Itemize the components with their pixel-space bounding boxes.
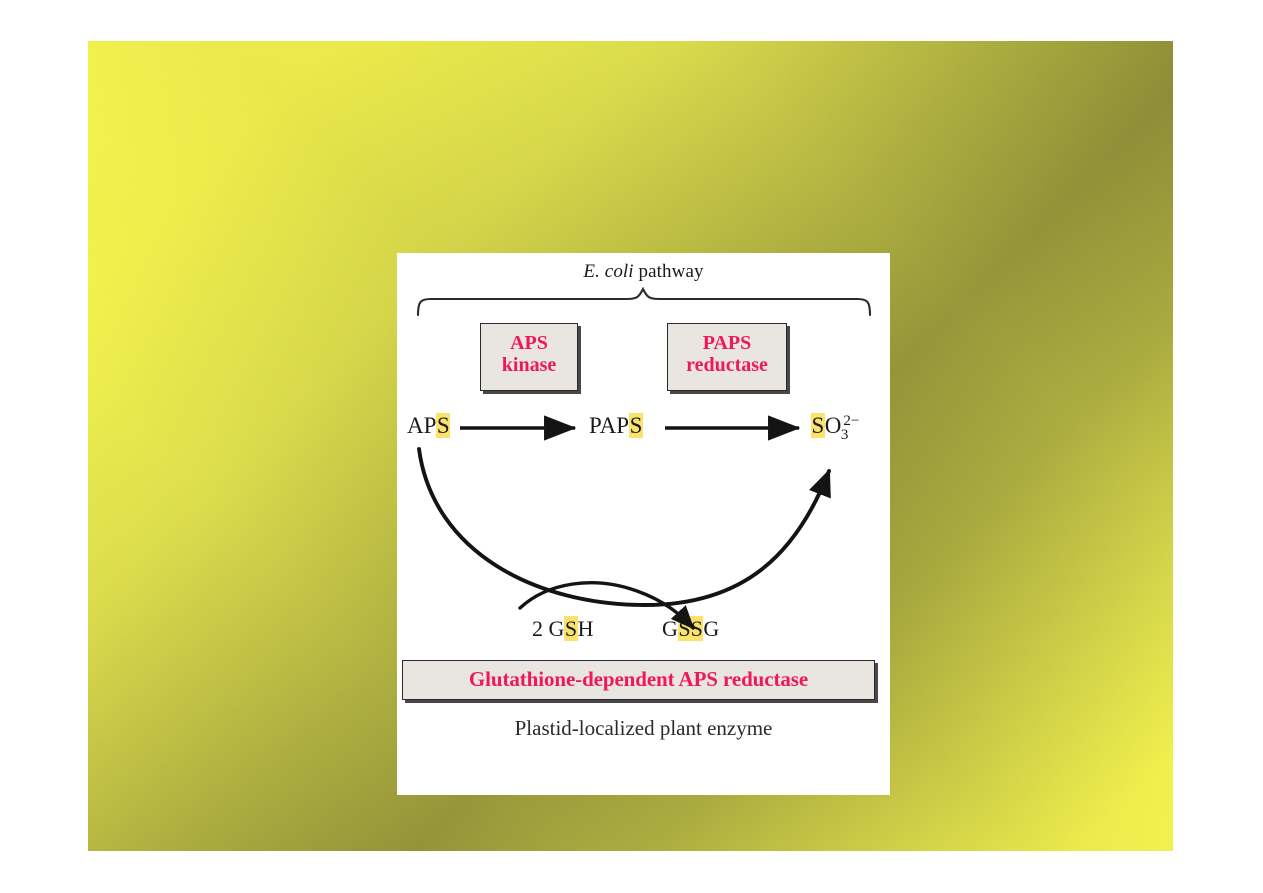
arrow-aps-to-so3-curved: [419, 449, 829, 605]
figure-bottom-caption: Plastid-localized plant enzyme: [397, 716, 890, 741]
paps-reductase-line1: PAPS: [668, 332, 786, 354]
metabolite-sulfite: SO32−: [811, 413, 859, 444]
so3-subscript: 3: [841, 427, 849, 443]
pathway-caption: E. coli pathway: [397, 261, 890, 283]
paps-sulfur-highlight: S: [629, 413, 643, 438]
enzyme-box-paps-reductase[interactable]: PAPS reductase: [667, 323, 787, 391]
metabolite-aps: APS: [407, 413, 450, 439]
so3-sulfur-highlight: S: [811, 413, 825, 438]
gssg-prefix: G: [662, 616, 678, 641]
reaction-arrows: [397, 253, 890, 795]
gssg-suffix: G: [703, 616, 719, 641]
metabolite-paps: PAPS: [589, 413, 643, 439]
paps-prefix: PAP: [589, 413, 629, 438]
figure-panel: E. coli pathway APS kinase PAPS reductas…: [397, 253, 890, 795]
aps-prefix: AP: [407, 413, 436, 438]
aps-kinase-line2: kinase: [481, 354, 577, 376]
slide-root: E. coli pathway APS kinase PAPS reductas…: [0, 0, 1263, 893]
cofactor-gsh: 2 GSH: [532, 616, 594, 642]
so3-oxygen: O: [825, 413, 842, 438]
pathway-word: pathway: [634, 261, 704, 282]
aps-kinase-line1: APS: [481, 332, 577, 354]
glutathione-box-label: Glutathione-dependent APS reductase: [469, 667, 808, 691]
gsh-suffix: H: [578, 616, 594, 641]
gsh-sulfur-highlight: S: [564, 616, 577, 641]
figure-inner: E. coli pathway APS kinase PAPS reductas…: [397, 253, 890, 795]
paps-reductase-line2: reductase: [668, 354, 786, 376]
so3-superscript-charge: 2−: [843, 413, 859, 429]
species-name: E. coli: [583, 261, 633, 282]
aps-sulfur-highlight: S: [436, 413, 450, 438]
pathway-brace: [415, 287, 873, 317]
enzyme-box-glutathione-dependent-aps-reductase[interactable]: Glutathione-dependent APS reductase: [402, 660, 875, 700]
gssg-disulfide-highlight: SS: [678, 616, 703, 641]
gsh-prefix: 2 G: [532, 616, 564, 641]
cofactor-gssg: GSSG: [662, 616, 719, 642]
enzyme-box-aps-kinase[interactable]: APS kinase: [480, 323, 578, 391]
